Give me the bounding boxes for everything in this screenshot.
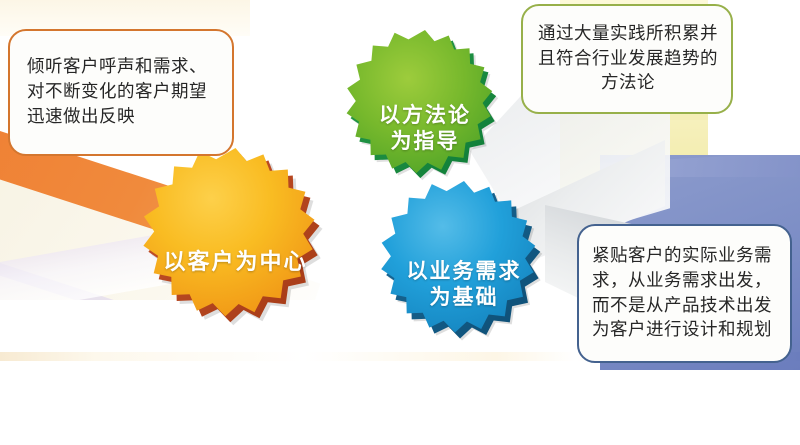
- callout-customer[interactable]: 倾听客户呼声和需求、对不断变化的客户期望迅速做出反映: [8, 29, 234, 156]
- callout-method[interactable]: 通过大量实践所积累并且符合行业发展趋势的方法论: [521, 4, 733, 114]
- callout-business[interactable]: 紧贴客户的实际业务需求，从业务需求出发，而不是从产品技术出发为客户进行设计和规划: [577, 224, 792, 363]
- callout-customer-text: 倾听客户呼声和需求、对不断变化的客户期望迅速做出反映: [27, 55, 218, 130]
- callout-method-text: 通过大量实践所积累并且符合行业发展趋势的方法论: [535, 22, 721, 97]
- callout-business-text: 紧贴客户的实际业务需求，从业务需求出发，而不是从产品技术出发为客户进行设计和规划: [592, 244, 780, 343]
- gear-customer[interactable]: 以客户为中心: [118, 145, 353, 380]
- gear-business[interactable]: 以业务需求 为基础: [358, 178, 570, 390]
- slide-canvas: 以方法论 为指导: [0, 0, 800, 445]
